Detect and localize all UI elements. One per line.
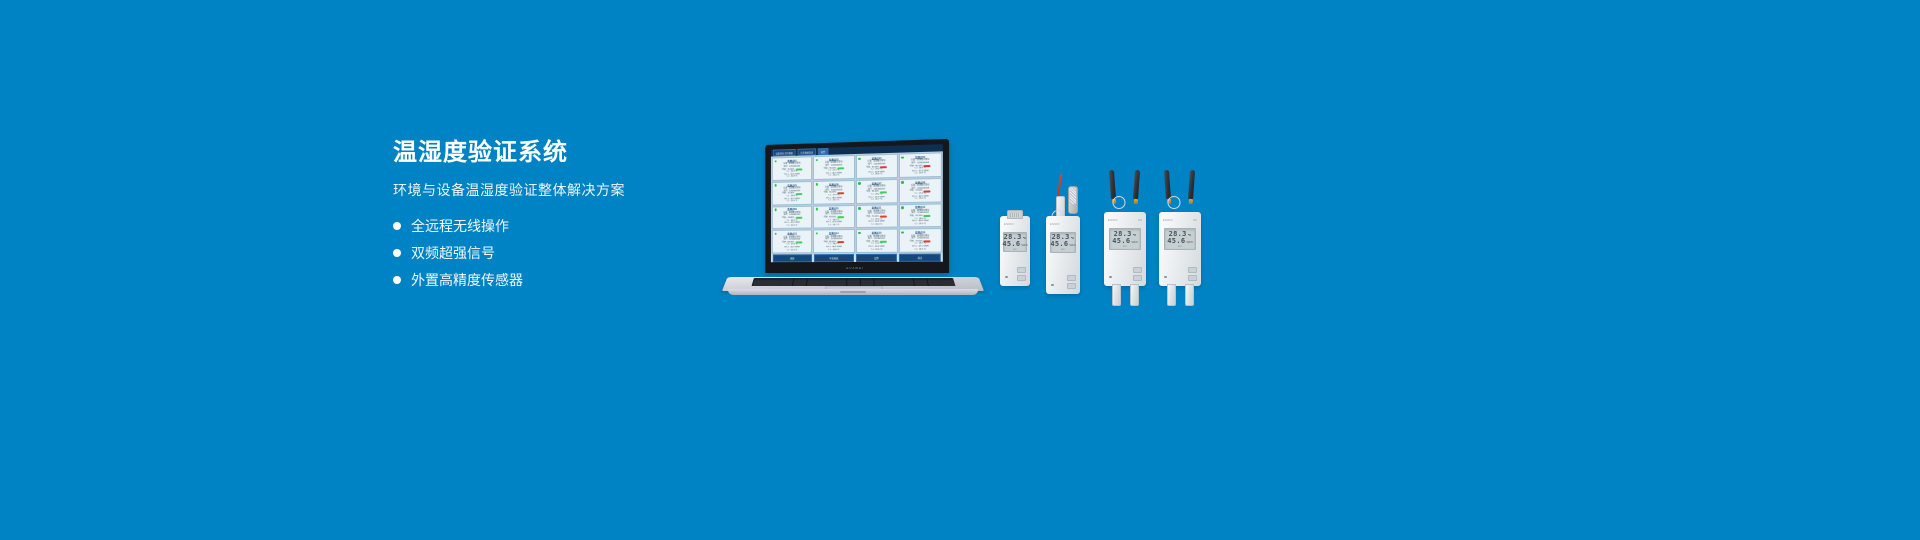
card-status-led-icon	[858, 182, 860, 185]
lcd-temperature-unit: ℃	[1188, 234, 1192, 237]
card-status-led-icon	[901, 181, 904, 184]
lcd-status-label: REC	[1110, 246, 1140, 248]
card-title: 监测点15	[872, 231, 882, 235]
monitoring-card[interactable]: 监测点15设备:温湿度记录仪编号:1250000115电量:71.30%T-1:…	[855, 229, 897, 253]
device-lcd-display: 28.3 ℃ 45.6 %RH REC	[1109, 228, 1141, 250]
device-dual-antenna-validator-right: ENOIN H8 28.3 ℃ 45.6 %RH REC	[1159, 200, 1201, 286]
device-wireless-temp-humidity-logger-small: ENOIN 28.3 ℃ 45.6 %RH REC	[1000, 216, 1030, 286]
monitoring-card-grid: 监测点01设备:温湿度记录仪编号:1250000101电量:75.00%T-1:…	[771, 151, 943, 254]
card-field-key: T-2:	[914, 173, 918, 176]
hanger-ring-icon	[1168, 196, 1181, 209]
card-field-row: T-2:25.8 ℃	[786, 176, 797, 179]
card-field-value: 25.2 ℃	[919, 198, 926, 201]
monitoring-card[interactable]: 监测点01设备:温湿度记录仪编号:1250000101电量:75.00%T-1:…	[772, 156, 812, 180]
export-report-button[interactable]: 导出报表	[814, 254, 854, 262]
monitoring-card[interactable]: 监测点07设备:温湿度记录仪编号:1250000107电量:88.30%T-1:…	[855, 179, 897, 204]
device-up-button[interactable]	[1188, 267, 1197, 273]
card-status-led-icon	[816, 208, 818, 211]
card-field-value: 25.9 ℃	[791, 225, 798, 228]
settings-button[interactable]: 设置	[856, 254, 897, 262]
card-field-value: 25.7 ℃	[875, 199, 882, 202]
device-brand-row: ENOIN	[1046, 223, 1080, 226]
device-brand-row: ENOIN	[1000, 223, 1030, 226]
device-brand-label: ENOIN	[1163, 219, 1173, 222]
card-field-value: 25.6 ℃	[791, 200, 798, 203]
card-field-row: T-2:25.7 ℃	[871, 199, 883, 202]
laptop-screen: 设备列表 实时数据 历史数据查询 报警 监测点01设备:温湿度记录仪编号:125…	[771, 144, 943, 262]
device-lcd-display: 28.3 ℃ 45.6 %RH REC	[1050, 232, 1076, 253]
card-field-value: 24.9 ℃	[919, 173, 926, 176]
card-field-key: T-2:	[871, 199, 875, 202]
device-button-group[interactable]	[1133, 267, 1142, 281]
device-up-button[interactable]	[1133, 267, 1142, 273]
external-sensor-probe-icon	[1130, 284, 1139, 306]
feature-label: 外置高精度传感器	[411, 273, 523, 287]
keyboard-key[interactable]	[793, 285, 806, 286]
lcd-humidity-unit: %RH	[1131, 241, 1137, 244]
monitoring-card[interactable]: 监测点12设备:温湿度记录仪编号:1250000112电量:76.70%T-1:…	[899, 203, 942, 228]
lcd-humidity-value: 45.6	[1167, 238, 1185, 245]
card-field-value: 26.3 ℃	[875, 224, 882, 227]
bullet-dot-icon	[393, 222, 401, 230]
device-dual-antenna-validator-left: ENOIN H8 28.3 ℃ 45.6 %RH REC	[1104, 200, 1146, 286]
card-status-led-icon	[816, 232, 818, 235]
card-field-key: T-2:	[786, 200, 789, 203]
device-lcd-display: 28.3 ℃ 45.6 %RH REC	[1164, 228, 1196, 250]
status-led-icon	[1005, 276, 1008, 279]
card-status-led-icon	[816, 183, 818, 186]
monitoring-card[interactable]: 监测点05设备:温湿度记录仪编号:1250000105电量:72.40%T-1:…	[772, 181, 812, 205]
card-field-key: T-2:	[871, 249, 875, 252]
antenna-icon	[1164, 170, 1171, 200]
monitoring-card[interactable]: 监测点16设备:温湿度记录仪编号:1250000116电量:77.50%T-1:…	[899, 228, 942, 252]
device-down-button[interactable]	[1188, 275, 1197, 281]
antenna-icon	[1109, 170, 1116, 200]
lcd-temperature-unit: ℃	[1071, 237, 1075, 240]
card-field-row: T-2:25.4 ℃	[828, 175, 839, 178]
device-body: ENOIN H8 28.3 ℃ 45.6 %RH REC	[1159, 212, 1201, 286]
card-status-led-icon	[816, 159, 818, 162]
list-item: 外置高精度传感器	[393, 273, 713, 287]
keyboard-key[interactable]	[888, 285, 901, 286]
card-field-row: T-2:25.6 ℃	[786, 200, 797, 203]
device-button-group[interactable]	[1067, 275, 1076, 289]
device-model-label: H8	[1138, 219, 1142, 222]
card-status-led-icon	[774, 208, 776, 210]
card-field-key: T-2:	[914, 248, 918, 251]
card-status-led-icon	[774, 184, 776, 187]
card-field-row: T-2:26.0 ℃	[871, 174, 883, 177]
lcd-humidity-row: 45.6 %RH	[1051, 241, 1075, 248]
card-status-led-icon	[858, 157, 860, 160]
keyboard-key[interactable]	[806, 285, 819, 286]
card-field-value: 25.3 ℃	[791, 249, 798, 252]
card-field-row: T-2:25.9 ℃	[786, 225, 797, 228]
card-field-row: T-2:26.1 ℃	[914, 248, 926, 251]
card-field-row: T-2:25.1 ℃	[828, 199, 839, 202]
external-sensor-probe-icon	[1185, 284, 1194, 306]
monitoring-card[interactable]: 监测点04设备:温湿度记录仪编号:1250000104电量:81.10%T-1:…	[899, 152, 942, 177]
device-down-button[interactable]	[1067, 283, 1076, 289]
device-body: ENOIN H8 28.3 ℃ 45.6 %RH REC	[1104, 212, 1146, 286]
keyboard-key[interactable]	[942, 285, 955, 286]
card-title: 监测点12	[915, 205, 925, 209]
banner-copy: 温湿度验证系统 环境与设备温湿度验证整体解决方案 全远程无线操作 双频超强信号 …	[393, 140, 713, 300]
device-button-group[interactable]	[1017, 267, 1026, 281]
page-subtitle: 环境与设备温湿度验证整体解决方案	[393, 182, 713, 199]
card-field-key: T-2:	[786, 225, 789, 228]
card-status-led-icon	[901, 206, 904, 209]
lcd-humidity-row: 45.6 %RH	[1165, 238, 1195, 245]
hanger-ring-icon	[1113, 196, 1126, 209]
lcd-humidity-value: 45.6	[1050, 241, 1068, 248]
status-led-icon	[1051, 284, 1054, 287]
device-brand-label: ENOIN	[1108, 219, 1118, 222]
device-up-button[interactable]	[1067, 275, 1076, 281]
lcd-humidity-row: 45.6 %RH	[1004, 241, 1026, 248]
monitoring-card[interactable]: 监测点03设备:温湿度记录仪编号:1250000103电量:69.50%T-1:…	[855, 154, 897, 179]
promo-banner: 温湿度验证系统 环境与设备温湿度验证整体解决方案 全远程无线操作 双频超强信号 …	[0, 0, 1920, 540]
feature-label: 双频超强信号	[411, 246, 495, 260]
card-field-value: 25.5 ℃	[919, 223, 926, 226]
feature-list: 全远程无线操作 双频超强信号 外置高精度传感器	[393, 219, 713, 287]
list-item: 双频超强信号	[393, 246, 713, 260]
card-field-row: T-2:25.5 ℃	[914, 223, 926, 226]
keyboard-key[interactable]	[915, 285, 928, 286]
device-body: ENOIN 28.3 ℃ 45.6 %RH REC	[1000, 216, 1030, 286]
keyboard-key[interactable]	[901, 285, 914, 286]
card-field-key: T-2:	[786, 249, 789, 252]
card-field-value: 25.0 ℃	[875, 248, 882, 251]
lcd-humidity-unit: %RH	[1069, 244, 1075, 247]
card-field-row: T-2:25.2 ℃	[914, 198, 926, 201]
card-status-led-icon	[901, 156, 904, 159]
card-status-led-icon	[774, 233, 776, 235]
card-field-value: 26.1 ℃	[919, 248, 926, 251]
device-lcd-display: 28.3 ℃ 45.6 %RH REC	[1003, 232, 1027, 252]
card-field-key: T-2:	[828, 249, 832, 252]
lcd-temperature-unit: ℃	[1023, 237, 1027, 240]
card-status-led-icon	[901, 231, 904, 234]
monitoring-card[interactable]: 监测点13设备:温湿度记录仪编号:1250000113电量:68.90%T-1:…	[772, 230, 812, 254]
lcd-humidity-row: 45.6 %RH	[1110, 238, 1140, 245]
laptop-keyboard[interactable]	[751, 278, 955, 286]
card-title: 监测点14	[829, 231, 839, 235]
page-title: 温湿度验证系统	[393, 140, 713, 166]
lcd-status-label: REC	[1004, 249, 1026, 251]
card-title: 监测点13	[787, 232, 796, 236]
antenna-icon	[1133, 170, 1140, 200]
bullet-dot-icon	[393, 249, 401, 257]
keyboard-key[interactable]	[779, 285, 792, 286]
card-field-row: T-2:25.8 ℃	[828, 249, 839, 252]
device-temp-humidity-logger-with-probe: ENOIN 28.3 ℃ 45.6 %RH REC	[1046, 208, 1080, 294]
card-field-value: 25.8 ℃	[833, 249, 840, 252]
device-brand-row: ENOIN H8	[1159, 219, 1201, 222]
laptop-open-notch	[840, 291, 866, 293]
card-title: 监测点10	[829, 207, 839, 211]
device-up-button[interactable]	[1017, 267, 1026, 273]
bullet-dot-icon	[393, 276, 401, 284]
feature-label: 全远程无线操作	[411, 219, 509, 233]
monitoring-card[interactable]: 监测点06设备:温湿度记录仪编号:1250000106电量:65.00%T-1:…	[813, 180, 854, 204]
device-brand-row: ENOIN H8	[1104, 219, 1146, 222]
card-field-key: T-2:	[914, 198, 918, 201]
device-brand-label: ENOIN	[1004, 223, 1014, 226]
external-sensor-probe-icon	[1167, 284, 1176, 306]
device-body: ENOIN 28.3 ℃ 45.6 %RH REC	[1046, 216, 1080, 294]
hanger-clip-icon	[1007, 210, 1023, 219]
card-field-key: T-2:	[786, 176, 789, 179]
monitoring-card[interactable]: 监测点10设备:温湿度记录仪编号:1250000110电量:83.20%T-1:…	[813, 205, 854, 229]
card-status-led-icon	[774, 160, 776, 163]
card-field-row: T-2:25.0 ℃	[871, 248, 883, 251]
card-field-value: 24.7 ℃	[833, 224, 840, 227]
laptop-base	[722, 266, 984, 299]
card-field-row: T-2:24.7 ℃	[828, 224, 839, 227]
card-field-value: 25.1 ℃	[833, 199, 840, 202]
lcd-status-label: REC	[1165, 246, 1195, 248]
card-title: 监测点16	[915, 230, 925, 234]
card-field-value: 26.0 ℃	[875, 174, 882, 177]
card-field-key: T-2:	[828, 200, 832, 203]
keyboard-key[interactable]	[752, 285, 765, 286]
lcd-humidity-value: 45.6	[1002, 241, 1020, 248]
status-led-icon	[1109, 276, 1112, 279]
monitoring-card[interactable]: 监测点02设备:温湿度记录仪编号:1250000102电量:78.20%T-1:…	[813, 155, 854, 180]
card-field-key: T-2:	[871, 224, 875, 227]
card-field-key: T-2:	[914, 223, 918, 226]
card-field-key: T-2:	[828, 175, 832, 178]
device-down-button[interactable]	[1133, 275, 1142, 281]
card-field-row: T-2:25.3 ℃	[786, 249, 797, 252]
device-down-button[interactable]	[1017, 275, 1026, 281]
monitoring-card[interactable]: 监测点09设备:温湿度记录仪编号:1250000109电量:74.80%T-1:…	[772, 205, 812, 229]
monitoring-card[interactable]: 监测点08设备:温湿度记录仪编号:1250000108电量:79.60%T-1:…	[899, 178, 942, 203]
card-field-row: T-2:24.9 ℃	[914, 173, 926, 176]
keyboard-key[interactable]	[928, 285, 941, 286]
lcd-humidity-unit: %RH	[1186, 241, 1192, 244]
device-model-label: H8	[1193, 219, 1197, 222]
laptop-product-image: 设备列表 实时数据 历史数据查询 报警 监测点01设备:温湿度记录仪编号:125…	[722, 142, 984, 299]
refresh-button[interactable]: 刷新	[773, 254, 812, 262]
card-title: 监测点11	[872, 206, 882, 210]
lcd-humidity-unit: %RH	[1021, 244, 1027, 247]
card-field-key: T-2:	[871, 174, 875, 177]
mesh-sensor-probe-icon	[1068, 186, 1078, 214]
status-led-icon	[1164, 276, 1167, 279]
external-sensor-probe-icon	[1112, 284, 1121, 306]
device-brand-label: ENOIN	[1050, 223, 1060, 226]
lcd-temperature-unit: ℃	[1133, 234, 1137, 237]
laptop-lid: 设备列表 实时数据 历史数据查询 报警 监测点01设备:温湿度记录仪编号:125…	[765, 139, 949, 273]
lcd-humidity-value: 45.6	[1112, 238, 1130, 245]
card-field-row: T-2:26.3 ℃	[871, 224, 883, 227]
card-title: 监测点09	[787, 207, 796, 211]
list-item: 全远程无线操作	[393, 219, 713, 233]
card-status-led-icon	[858, 232, 860, 235]
monitoring-card[interactable]: 监测点11设备:温湿度记录仪编号:1250000111电量:70.10%T-1:…	[855, 204, 897, 228]
card-field-value: 25.8 ℃	[791, 176, 798, 179]
card-field-value: 25.4 ℃	[833, 175, 840, 178]
exit-button[interactable]: 退出	[899, 254, 941, 262]
keyboard-key[interactable]	[766, 285, 779, 286]
monitoring-card[interactable]: 监测点14设备:温湿度记录仪编号:1250000114电量:85.40%T-1:…	[813, 229, 854, 253]
card-field-key: T-2:	[828, 224, 832, 227]
lcd-status-label: REC	[1051, 249, 1075, 251]
card-status-led-icon	[858, 207, 860, 210]
antenna-icon	[1188, 170, 1195, 200]
device-button-group[interactable]	[1188, 267, 1197, 281]
